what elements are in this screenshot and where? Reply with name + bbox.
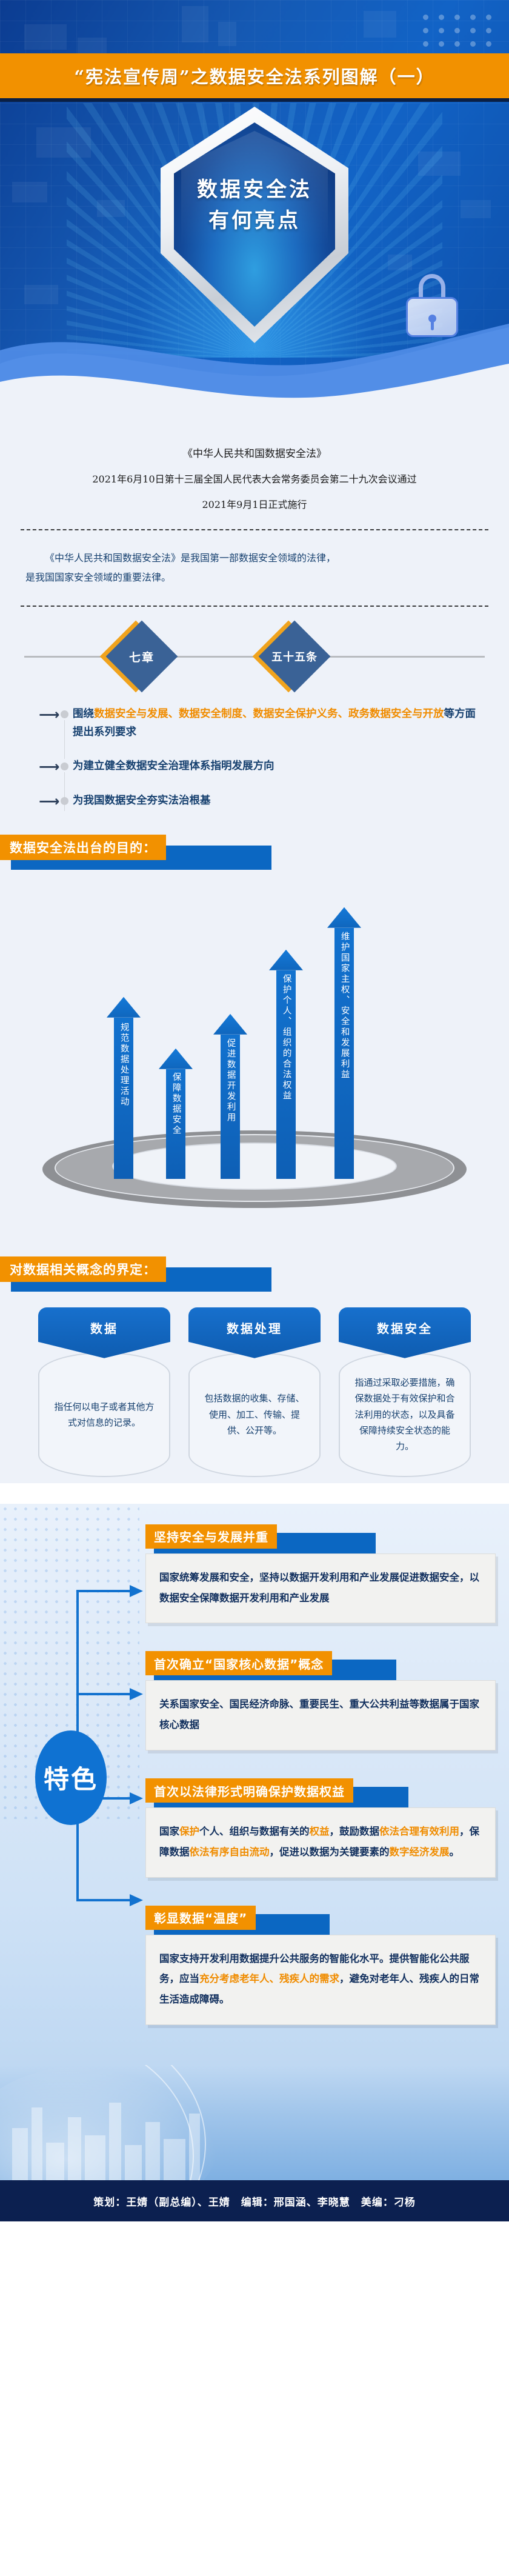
feature-card-header: 首次以法律形式明确保护数据权益 (145, 1778, 496, 1807)
chart-bar-5-label: 维护国家主权、安全和发展利益 (327, 932, 361, 1174)
banner-title-bar: “宪法宣传周”之数据安全法系列图解（一） (0, 53, 509, 98)
concept-term: 数据处理 (227, 1319, 282, 1336)
shield-headline-line2: 有何亮点 (161, 205, 348, 236)
feature-seg-highlight: 权益 (310, 1826, 330, 1837)
feature-seg: ，鼓励数据 (330, 1826, 380, 1837)
feature-card: 坚持安全与发展并重 国家统筹发展和安全，坚持以数据开发利用和产业发展促进数据安全… (145, 1524, 496, 1624)
chart-bar-4-label: 保护个人、组织的合法权益 (269, 974, 303, 1174)
hero-wave-divider (0, 303, 509, 424)
feature-card-title: 彰显数据“温度” (145, 1906, 256, 1930)
content-body: 《中华人民共和国数据安全法》 2021年6月10日第十三届全国人民代表大会常务委… (0, 424, 509, 1483)
concept-term: 数据安全 (377, 1319, 433, 1336)
feature-seg: 。 (450, 1846, 460, 1858)
concepts-section-heading: 对数据相关概念的界定： (0, 1256, 509, 1292)
diamond-articles-label: 五十五条 (269, 631, 320, 682)
concept-definition-bubble: 指任何以电子或者其他方式对信息的记录。 (38, 1352, 170, 1477)
features-badge: 特色 (35, 1730, 107, 1825)
feature-card: 首次以法律形式明确保护数据权益 国家保护个人、组织与数据有关的权益，鼓励数据依法… (145, 1778, 496, 1878)
chart-bar-5: 维护国家主权、安全和发展利益 (327, 907, 361, 1179)
purpose-arrow-chart: 规范数据处理活动 保障数据安全 促进数据开发利用 保护个人、组织的合法权益 (0, 881, 509, 1232)
concept-definition: 指通过采取必要措施，确保数据处于有效保护和合法利用的状态，以及具备保障持续安全状… (354, 1375, 455, 1454)
feature-seg: 国家统筹发展和安全，坚持以数据开发利用和产业发展促进数据安全，以数据安全保障数据… (159, 1572, 479, 1604)
bullet-seg: 为我国数据安全夯实法治根基 (73, 795, 211, 807)
feature-seg: 个人、组织与数据有关的 (199, 1826, 310, 1837)
bullet-text: 为我国数据安全夯实法治根基 (73, 792, 211, 810)
intro-line-1: 《中华人民共和国数据安全法》是我国第一部数据安全领域的法律， (45, 552, 336, 564)
hero-dot-grid (423, 15, 496, 58)
feature-card-body: 国家统筹发展和安全，坚持以数据开发利用和产业发展促进数据安全，以数据安全保障数据… (145, 1553, 496, 1624)
feature-card-title: 首次以法律形式明确保护数据权益 (145, 1778, 353, 1803)
feature-card-body: 关系国家安全、国民经济命脉、重要民生、重大公共利益等数据属于国家核心数据 (145, 1680, 496, 1750)
concept-term-tag: 数据 (38, 1307, 170, 1358)
features-card-list: 坚持安全与发展并重 国家统筹发展和安全，坚持以数据开发利用和产业发展促进数据安全… (145, 1524, 509, 2053)
chart-bar-4: 保护个人、组织的合法权益 (269, 950, 303, 1179)
feature-card-header: 坚持安全与发展并重 (145, 1524, 496, 1553)
features-section: 特色 坚持安全与发展并重 国家统筹发展和安全，坚持以数据开发利用和产业发展促进数… (0, 1504, 509, 2065)
feature-card-title: 首次确立“国家核心数据”概念 (145, 1651, 332, 1675)
footer-credits: 策划：王婧（副总编）、王婧 编辑：邢国涵、李晓慧 美编：刁杨 (93, 2194, 416, 2209)
concept-definition-bubble: 指通过采取必要措施，确保数据处于有效保护和合法利用的状态，以及具备保障持续安全状… (339, 1352, 471, 1477)
intro-line-2: 是我国国家安全领域的重要法律。 (6, 568, 171, 587)
infographic-page: “宪法宣传周”之数据安全法系列图解（一） 数据安全法 有何亮点 《中华人民共和国… (0, 0, 509, 2221)
feature-seg: ，促进以数据为关键要素的 (270, 1846, 390, 1858)
concept-term-tag: 数据处理 (188, 1307, 321, 1358)
chart-podium (42, 1124, 467, 1215)
law-passed-line: 2021年6月10日第十三届全国人民代表大会常务委员会第二十九次会议通过 (0, 471, 509, 486)
feature-seg-highlight: 依法合理有效利用 (379, 1826, 459, 1837)
bullet-seg: 为建立健全数据安全治理体系指明发展方向 (73, 760, 274, 772)
intro-paragraph: 《中华人民共和国数据安全法》是我国第一部数据安全领域的法律， 是我国国家安全领域… (25, 549, 484, 587)
diamond-articles: 五十五条 (269, 631, 320, 682)
feature-card-title: 坚持安全与发展并重 (145, 1524, 277, 1549)
feature-card-body: 国家支持开发利用数据提升公共服务的智能化水平。提供智能化公共服务，应当充分考虑老… (145, 1935, 496, 2025)
purpose-section-heading: 数据安全法出台的目的： (0, 835, 509, 870)
feature-seg-highlight: 保护 (179, 1826, 199, 1837)
chart-bar-2-label: 保障数据安全 (159, 1072, 193, 1174)
skyline-decoration (0, 2065, 509, 2180)
bullet-text: 围绕数据安全与发展、数据安全制度、数据安全保护义务、政务数据安全与开放等方面提出… (73, 705, 477, 741)
feature-seg: 国家 (159, 1826, 179, 1837)
list-item: ⟶ 为建立健全数据安全治理体系指明发展方向 (39, 757, 477, 776)
feature-card-header: 首次确立“国家核心数据”概念 (145, 1651, 496, 1680)
diamond-chapters-label: 七章 (116, 631, 167, 682)
shield-headline-line1: 数据安全法 (161, 175, 348, 205)
arrow-right-icon: ⟶ (39, 706, 59, 724)
concept-card: 数据安全 指通过采取必要措施，确保数据处于有效保护和合法利用的状态，以及具备保障… (339, 1307, 471, 1477)
banner-title: “宪法宣传周”之数据安全法系列图解（一） (74, 63, 434, 88)
list-item: ⟶ 为我国数据安全夯实法治根基 (39, 792, 477, 810)
feature-card-header: 彰显数据“温度” (145, 1906, 496, 1935)
feature-seg-highlight: 依法有序自由流动 (190, 1846, 270, 1858)
footer-credits-bar: 策划：王婧（副总编）、王婧 编辑：邢国涵、李晓慧 美编：刁杨 (0, 2180, 509, 2221)
chart-bar-3-label: 促进数据开发利用 (213, 1038, 247, 1174)
concept-definition: 包括数据的收集、存储、使用、加工、传输、提供、公开等。 (204, 1390, 305, 1438)
bullet-seg-highlight: 数据安全与发展、数据安全制度、数据安全保护义务、政务数据安全与开放 (94, 708, 444, 720)
purpose-heading-label: 数据安全法出台的目的： (0, 835, 166, 860)
structure-bullet-list: ⟶ 围绕数据安全与发展、数据安全制度、数据安全保护义务、政务数据安全与开放等方面… (0, 705, 509, 810)
concept-card: 数据 指任何以电子或者其他方式对信息的记录。 (38, 1307, 170, 1477)
concept-card-group: 数据 指任何以电子或者其他方式对信息的记录。 数据处理 包括数据的收集、存储、使… (0, 1307, 509, 1483)
concept-term-tag: 数据安全 (339, 1307, 471, 1358)
dashed-divider-1 (21, 529, 488, 530)
law-title: 《中华人民共和国数据安全法》 (0, 445, 509, 460)
diamond-chapters: 七章 (116, 631, 167, 682)
features-badge-label: 特色 (44, 1759, 98, 1796)
hero-banner: “宪法宣传周”之数据安全法系列图解（一） 数据安全法 有何亮点 (0, 0, 509, 424)
concept-definition: 指任何以电子或者其他方式对信息的记录。 (54, 1399, 155, 1431)
law-effective-line: 2021年9月1日正式施行 (0, 496, 509, 511)
feature-card-body: 国家保护个人、组织与数据有关的权益，鼓励数据依法合理有效利用，保障数据依法有序自… (145, 1807, 496, 1878)
bullet-seg: 围绕 (73, 708, 94, 720)
dashed-divider-2 (21, 606, 488, 607)
chart-bar-3: 促进数据开发利用 (213, 1014, 247, 1179)
chart-bar-1-label: 规范数据处理活动 (107, 1023, 141, 1174)
concept-definition-bubble: 包括数据的收集、存储、使用、加工、传输、提供、公开等。 (188, 1352, 321, 1477)
concepts-heading-label: 对数据相关概念的界定： (0, 1256, 166, 1282)
feature-card: 首次确立“国家核心数据”概念 关系国家安全、国民经济命脉、重要民生、重大公共利益… (145, 1651, 496, 1750)
arrow-right-icon: ⟶ (39, 758, 59, 776)
feature-seg: 关系国家安全、国民经济命脉、重要民生、重大公共利益等数据属于国家核心数据 (159, 1698, 479, 1730)
chart-bar-2: 保障数据安全 (159, 1049, 193, 1179)
concept-term: 数据 (90, 1319, 118, 1336)
structure-diamonds: 七章 五十五条 (0, 622, 509, 689)
features-left-rail: 特色 (0, 1524, 145, 2053)
chart-bar-1: 规范数据处理活动 (107, 997, 141, 1179)
list-item: ⟶ 围绕数据安全与发展、数据安全制度、数据安全保护义务、政务数据安全与开放等方面… (39, 705, 477, 741)
feature-seg-highlight: 充分考虑老年人、残疾人的需求 (199, 1973, 339, 1984)
shield-headline: 数据安全法 有何亮点 (161, 175, 348, 236)
bullet-text: 为建立健全数据安全治理体系指明发展方向 (73, 757, 274, 775)
arrow-right-icon: ⟶ (39, 793, 59, 810)
feature-seg-highlight: 数字经济发展 (390, 1846, 450, 1858)
feature-card: 彰显数据“温度” 国家支持开发利用数据提升公共服务的智能化水平。提供智能化公共服… (145, 1906, 496, 2025)
concept-card: 数据处理 包括数据的收集、存储、使用、加工、传输、提供、公开等。 (188, 1307, 321, 1477)
